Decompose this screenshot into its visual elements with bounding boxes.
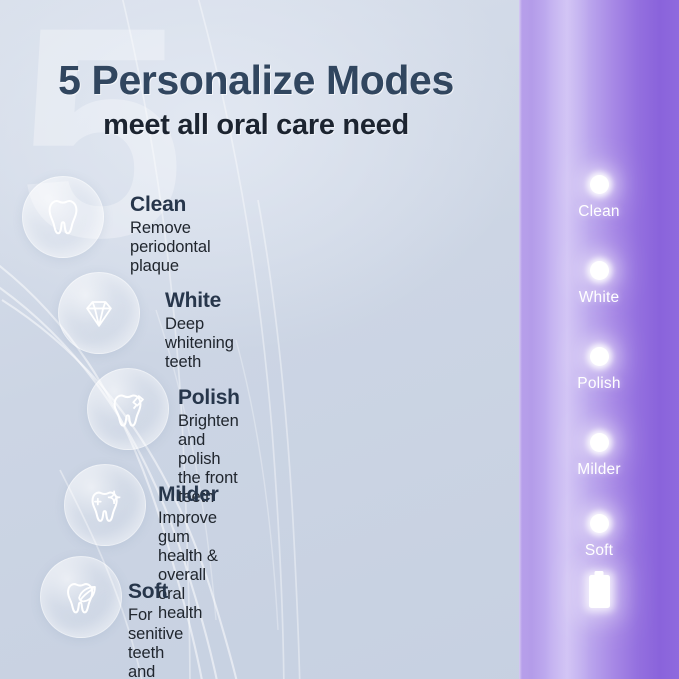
led-label: Milder [519,461,679,479]
mode-text-soft: Soft For senitive teeth and gum [128,580,183,679]
led-label: Clean [519,203,679,221]
page-subtitle: meet all oral care need [0,109,512,142]
mode-description: For senitive teeth and gum [128,606,183,679]
led-indicator-milder[interactable]: Milder [519,433,679,479]
battery-indicator [519,575,679,608]
bubble-soft [40,556,122,638]
heading-block: 5 Personalize Modes meet all oral care n… [0,57,512,142]
led-dot-icon [590,347,609,366]
led-dot-icon [590,261,609,280]
infographic-root: 5 5 Personalize Modes meet all oral care… [0,0,679,679]
device-panel: Clean White Polish Milder Soft [519,0,679,679]
mode-text-clean: Clean Remove periodontal plaque [130,193,211,276]
battery-nub [595,571,604,575]
bubble-clean [22,176,104,258]
mode-text-white: White Deep whitening teeth [165,289,234,372]
tooth-sparkle-icon [82,482,128,528]
bubble-polish [87,368,169,450]
tooth-leaf-icon [58,574,104,620]
bubble-white [58,272,140,354]
mode-description: Deep whitening teeth [165,315,234,372]
led-indicator-polish[interactable]: Polish [519,347,679,393]
tooth-icon [40,194,86,240]
led-dot-icon [590,514,609,533]
led-indicator-soft[interactable]: Soft [519,514,679,560]
mode-title: Milder [158,483,219,507]
mode-title: Clean [130,193,211,217]
led-label: White [519,289,679,307]
led-label: Polish [519,375,679,393]
mode-title: Polish [178,386,240,410]
led-dot-icon [590,433,609,452]
mode-title: Soft [128,580,183,604]
led-dot-icon [590,175,609,194]
led-label: Soft [519,542,679,560]
bubble-milder [64,464,146,546]
battery-icon [589,575,610,608]
mode-title: White [165,289,234,313]
tooth-brush-icon [105,386,151,432]
diamond-icon [77,291,121,335]
page-title: 5 Personalize Modes [0,57,512,104]
led-indicator-clean[interactable]: Clean [519,175,679,221]
led-indicator-white[interactable]: White [519,261,679,307]
mode-description: Remove periodontal plaque [130,219,211,276]
